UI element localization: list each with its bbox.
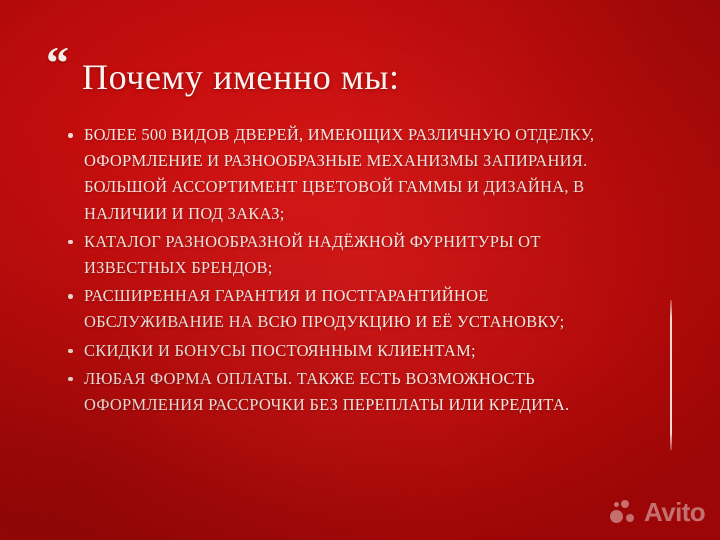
bullet-dot-icon bbox=[68, 240, 73, 245]
quotation-mark-icon: “ bbox=[46, 40, 68, 86]
bullet-dot-icon bbox=[68, 294, 73, 299]
page-title: Почему именно мы: bbox=[82, 58, 400, 98]
title-block: “ Почему именно мы: bbox=[46, 34, 400, 122]
avito-wordmark: Avito bbox=[644, 499, 705, 525]
bullet-dot-icon bbox=[68, 133, 73, 138]
list-item-text: КАТАЛОГ РАЗНООБРАЗНОЙ НАДЁЖНОЙ ФУРНИТУРЫ… bbox=[84, 232, 541, 277]
vertical-accent-rule bbox=[670, 300, 672, 450]
list-item: ЛЮБАЯ ФОРМА ОПЛАТЫ. ТАКЖЕ ЕСТЬ ВОЗМОЖНОС… bbox=[62, 366, 610, 418]
benefits-list: БОЛЕЕ 500 ВИДОВ ДВЕРЕЙ, ИМЕЮЩИХ РАЗЛИЧНУ… bbox=[62, 122, 610, 420]
list-item-text: БОЛЕЕ 500 ВИДОВ ДВЕРЕЙ, ИМЕЮЩИХ РАЗЛИЧНУ… bbox=[84, 125, 594, 223]
promo-slide: “ Почему именно мы: БОЛЕЕ 500 ВИДОВ ДВЕР… bbox=[0, 0, 720, 540]
avito-dots-logo-icon bbox=[610, 498, 640, 526]
list-item: КАТАЛОГ РАЗНООБРАЗНОЙ НАДЁЖНОЙ ФУРНИТУРЫ… bbox=[62, 229, 610, 281]
avito-watermark: Avito bbox=[610, 498, 705, 526]
list-item-text: СКИДКИ И БОНУСЫ ПОСТОЯННЫМ КЛИЕНТАМ; bbox=[84, 341, 476, 360]
list-item-text: ЛЮБАЯ ФОРМА ОПЛАТЫ. ТАКЖЕ ЕСТЬ ВОЗМОЖНОС… bbox=[84, 369, 569, 414]
list-item: РАСШИРЕННАЯ ГАРАНТИЯ И ПОСТГАРАНТИЙНОЕ О… bbox=[62, 283, 610, 335]
list-item: БОЛЕЕ 500 ВИДОВ ДВЕРЕЙ, ИМЕЮЩИХ РАЗЛИЧНУ… bbox=[62, 122, 610, 227]
list-item-text: РАСШИРЕННАЯ ГАРАНТИЯ И ПОСТГАРАНТИЙНОЕ О… bbox=[84, 286, 564, 331]
bullet-dot-icon bbox=[68, 349, 73, 354]
list-item: СКИДКИ И БОНУСЫ ПОСТОЯННЫМ КЛИЕНТАМ; bbox=[62, 338, 610, 364]
bullet-dot-icon bbox=[68, 377, 73, 382]
